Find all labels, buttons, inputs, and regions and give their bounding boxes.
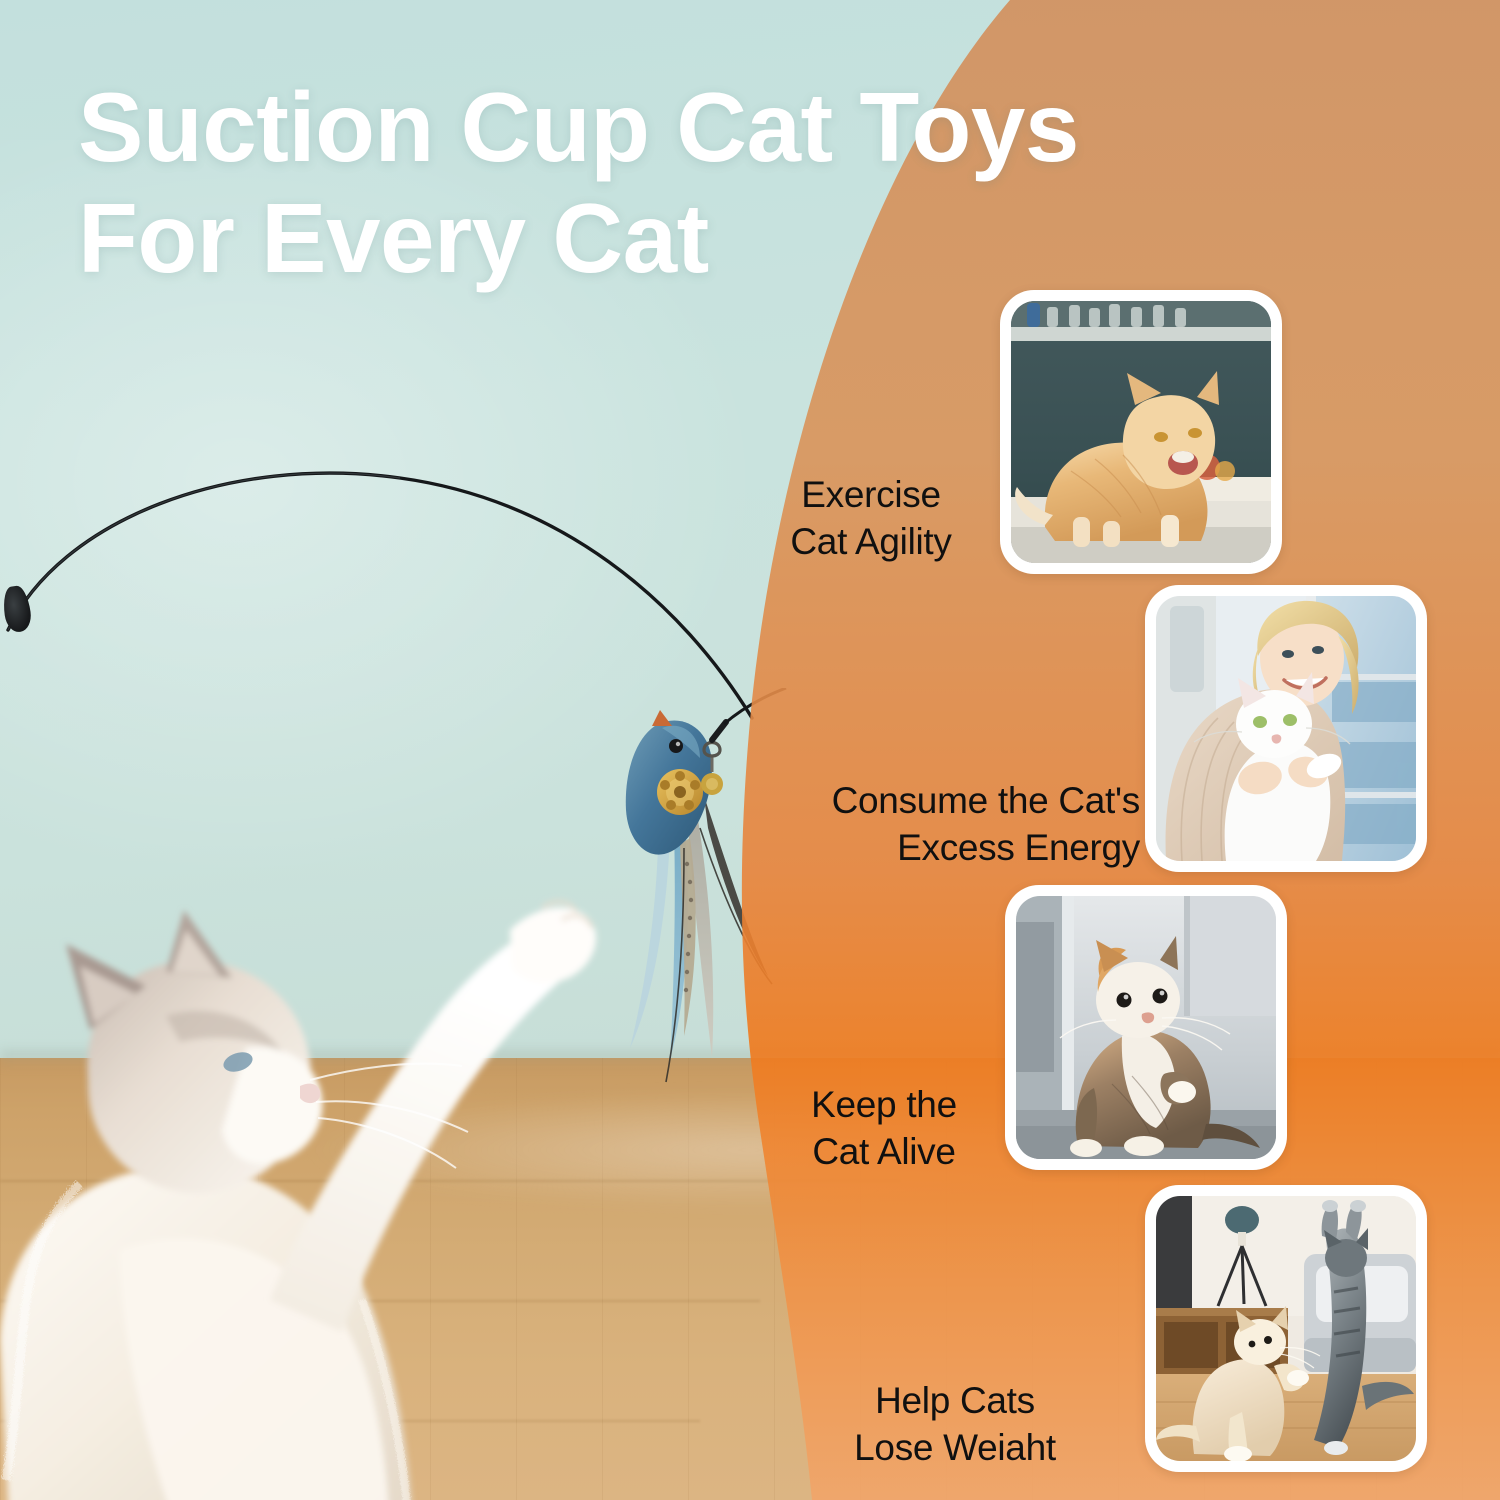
- feature-thumbnail[interactable]: [1145, 585, 1427, 872]
- calico-cat-sitting-photo: [1016, 896, 1276, 1159]
- woman-holding-white-cat-photo: [1156, 596, 1416, 861]
- feature-label: Keep the Cat Alive: [780, 1082, 988, 1175]
- feature-label: Exercise Cat Agility: [760, 472, 982, 565]
- two-cats-playing-photo: [1156, 1196, 1416, 1461]
- feature-label: Consume the Cat's Excess Energy: [780, 778, 1140, 871]
- feature-thumbnail[interactable]: [1000, 290, 1282, 574]
- hero-ragdoll-cat: [0, 780, 610, 1500]
- feature-thumbnail[interactable]: [1005, 885, 1287, 1170]
- feature-thumbnail[interactable]: [1145, 1185, 1427, 1472]
- product-infographic: Suction Cup Cat Toys For Every Cat Exerc…: [0, 0, 1500, 1500]
- feature-label: Help Cats Lose Weiaht: [780, 1378, 1130, 1471]
- feature-list: Exercise Cat Agility: [760, 0, 1500, 1500]
- orange-tabby-cat-photo: [1011, 301, 1271, 563]
